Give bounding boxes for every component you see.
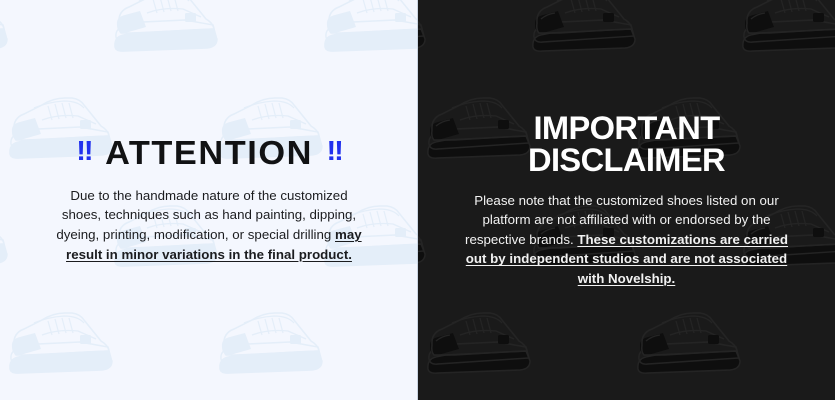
disclaimer-heading-line1: IMPORTANT xyxy=(438,112,814,145)
disclaimer-panel: IMPORTANT DISCLAIMER Please note that th… xyxy=(418,0,835,400)
attention-heading: !! ATTENTION !! xyxy=(17,136,402,169)
attention-body-text: Due to the handmade nature of the custom… xyxy=(52,186,367,264)
disclaimer-heading: IMPORTANT DISCLAIMER xyxy=(438,112,814,177)
attention-content: !! ATTENTION !! Due to the handmade natu… xyxy=(0,136,418,264)
attention-body-normal: Due to the handmade nature of the custom… xyxy=(56,188,356,242)
exclamation-icon-right: !! xyxy=(326,137,341,165)
disclaimer-body-text: Please note that the customized shoes li… xyxy=(462,191,792,289)
attention-heading-word: ATTENTION xyxy=(105,136,313,169)
panel-divider xyxy=(417,0,418,400)
disclaimer-content: IMPORTANT DISCLAIMER Please note that th… xyxy=(418,112,835,289)
attention-panel: !! ATTENTION !! Due to the handmade natu… xyxy=(0,0,418,400)
disclaimer-heading-line2: DISCLAIMER xyxy=(438,144,814,177)
exclamation-icon-left: !! xyxy=(76,137,91,165)
disclaimer-banner: !! ATTENTION !! Due to the handmade natu… xyxy=(0,0,835,400)
